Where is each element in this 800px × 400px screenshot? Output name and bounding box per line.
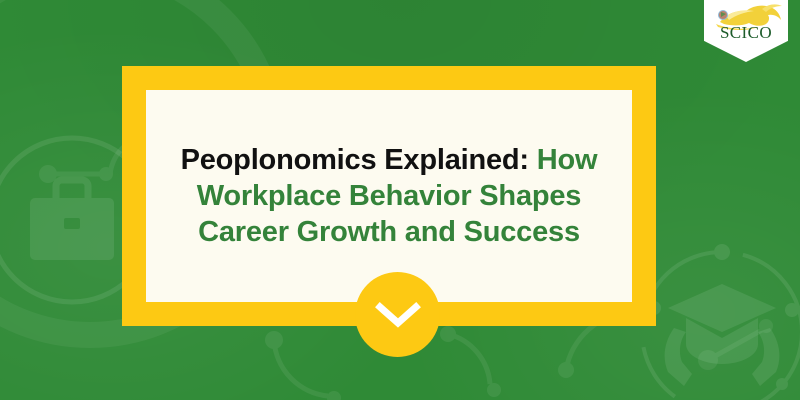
logo-wordmark: SCICO — [704, 23, 788, 43]
title-card-inner: Peoplonomics Explained: How Workplace Be… — [146, 90, 632, 302]
page-title: Peoplonomics Explained: How Workplace Be… — [160, 142, 618, 250]
scroll-down-button[interactable] — [355, 272, 440, 357]
scico-logo[interactable]: SCICO — [704, 0, 788, 62]
banner-image: Peoplonomics Explained: How Workplace Be… — [0, 0, 800, 400]
page-title-lead: Peoplonomics Explained: — [181, 144, 529, 176]
chevron-down-icon — [375, 300, 421, 330]
